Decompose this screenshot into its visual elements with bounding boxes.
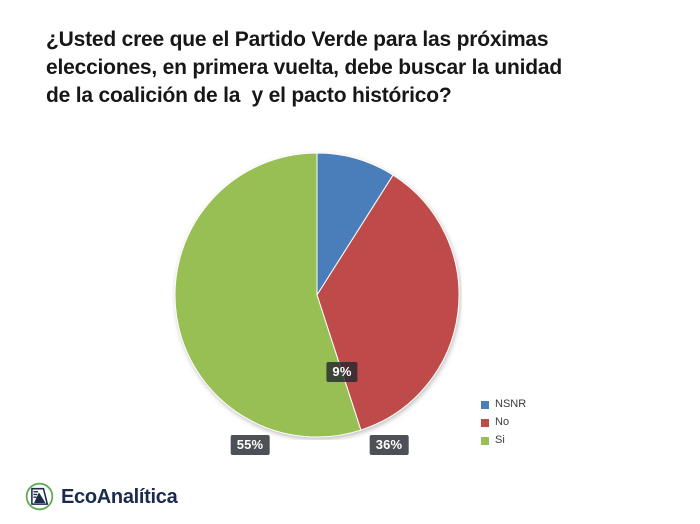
legend-swatch-nsnr [481, 401, 489, 409]
pie-slice-label-nsnr: 9% [326, 362, 357, 382]
pie-chart [172, 150, 462, 440]
legend-item-nsnr[interactable]: NSNR [481, 399, 526, 410]
pie-slice-group [175, 153, 459, 437]
page-title: ¿Usted cree que el Partido Verde para la… [46, 26, 656, 110]
legend-label-no: No [495, 417, 509, 428]
legend-label-nsnr: NSNR [495, 399, 526, 410]
pie-slice-label-si: 55% [231, 435, 270, 455]
pie-chart-plot-area: 9% 36% 55% NSNR No Si [0, 140, 700, 450]
brand-name: EcoAnalítica [61, 487, 177, 507]
legend-item-no[interactable]: No [481, 417, 526, 428]
page-title-line-3: de la coalición de la y el pacto históri… [46, 82, 656, 110]
legend-label-si: Si [495, 435, 505, 446]
chart-legend: NSNR No Si [481, 399, 526, 446]
page-title-line-2: elecciones, en primera vuelta, debe busc… [46, 54, 656, 82]
pie-slice-label-no: 36% [370, 435, 409, 455]
legend-swatch-no [481, 419, 489, 427]
document-chart-circle-icon [25, 482, 54, 511]
brand-logo: EcoAnalítica [25, 482, 177, 511]
page-title-line-1: ¿Usted cree que el Partido Verde para la… [46, 26, 656, 54]
legend-swatch-si [481, 437, 489, 445]
legend-item-si[interactable]: Si [481, 435, 526, 446]
